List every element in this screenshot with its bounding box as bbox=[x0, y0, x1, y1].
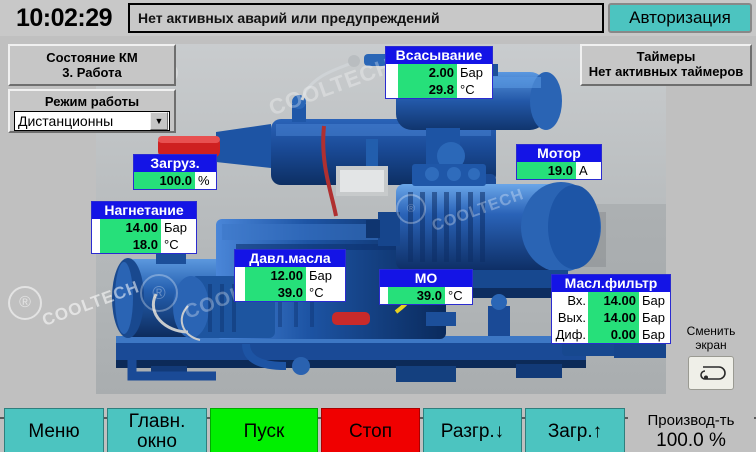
compressor-state-title: Состояние КМ bbox=[10, 50, 174, 65]
discharge-pressure-unit: Бар bbox=[161, 219, 196, 236]
mo-panel: МО 39.0 °C bbox=[379, 269, 473, 305]
menu-button[interactable]: Меню bbox=[4, 408, 104, 452]
oil-filter-row-differential: Диф. 0.00 Бар bbox=[552, 326, 670, 343]
capacity-value: 100.0 % bbox=[656, 430, 726, 452]
compressor-state-panel: Состояние КМ 3. Работа bbox=[8, 44, 176, 86]
oil-filter-differential-value: 0.00 bbox=[588, 326, 639, 343]
oil-filter-title: Масл.фильтр bbox=[552, 275, 670, 292]
oil-pressure-value: 12.00 bbox=[245, 267, 306, 284]
oil-filter-differential-label: Диф. bbox=[552, 326, 588, 343]
discharge-row-temperature: 18.0 °C bbox=[92, 236, 196, 253]
oil-filter-inlet-label: Вх. bbox=[552, 292, 588, 309]
top-bar: 10:02:29 Нет активных аварий или предупр… bbox=[0, 0, 756, 36]
suction-panel: Всасывание 2.00 Бар 29.8 °C bbox=[385, 46, 493, 99]
timers-title: Таймеры bbox=[582, 49, 750, 64]
oil-pressure-title: Давл.масла bbox=[235, 250, 345, 267]
suction-temperature-label bbox=[386, 81, 398, 98]
stop-button[interactable]: Стоп bbox=[321, 408, 420, 452]
oil-filter-outlet-unit: Бар bbox=[639, 309, 670, 326]
oil-filter-outlet-label: Вых. bbox=[552, 309, 588, 326]
change-screen-control: Сменить экран bbox=[672, 324, 750, 402]
motor-title: Мотор bbox=[517, 145, 601, 162]
clock-display: 10:02:29 bbox=[0, 0, 128, 36]
motor-panel: Мотор 19.0 A bbox=[516, 144, 602, 180]
timers-value: Нет активных таймеров bbox=[582, 64, 750, 79]
change-screen-label-line1: Сменить bbox=[672, 324, 750, 338]
discharge-panel: Нагнетание 14.00 Бар 18.0 °C bbox=[91, 201, 197, 254]
oil-filter-row-outlet: Вых. 14.00 Бар bbox=[552, 309, 670, 326]
load-title: Загруз. bbox=[134, 155, 216, 172]
suction-pressure-value: 2.00 bbox=[398, 64, 457, 81]
compressor-state-value: 3. Работа bbox=[10, 65, 174, 80]
operating-mode-selected-value: Дистанционны bbox=[15, 113, 150, 129]
authorization-button[interactable]: Авторизация bbox=[608, 3, 752, 33]
oil-filter-row-inlet: Вх. 14.00 Бар bbox=[552, 292, 670, 309]
loop-arrow-icon bbox=[696, 364, 726, 382]
main-area: ® COOLTECH ® COOLTECH ® COOLTECH ® COOLT… bbox=[0, 36, 756, 417]
mo-row-temperature: 39.0 °C bbox=[380, 287, 472, 304]
watermark-mark-4: ® bbox=[8, 286, 42, 320]
suction-pressure-label bbox=[386, 64, 398, 81]
motor-current-unit: A bbox=[576, 162, 601, 179]
oil-pressure-panel: Давл.масла 12.00 Бар 39.0 °C bbox=[234, 249, 346, 302]
timers-panel: Таймеры Нет активных таймеров bbox=[580, 44, 752, 86]
discharge-pressure-value: 14.00 bbox=[100, 219, 161, 236]
discharge-row-pressure: 14.00 Бар bbox=[92, 219, 196, 236]
capacity-status: Производ-ть 100.0 % bbox=[628, 408, 754, 452]
operating-mode-select[interactable]: Дистанционны ▼ bbox=[14, 111, 170, 131]
mo-temperature-unit: °C bbox=[445, 287, 472, 304]
oil-temperature-value: 39.0 bbox=[245, 284, 306, 301]
main-window-button[interactable]: Главн. окно bbox=[107, 408, 207, 452]
discharge-temperature-label bbox=[92, 236, 100, 253]
oil-filter-panel: Масл.фильтр Вх. 14.00 Бар Вых. 14.00 Бар… bbox=[551, 274, 671, 344]
load-percent-unit: % bbox=[195, 172, 216, 189]
change-screen-button[interactable] bbox=[688, 356, 734, 390]
load-percent-value: 100.0 bbox=[134, 172, 195, 189]
load-row-percent: 100.0 % bbox=[134, 172, 216, 189]
oil-pressure-row-temperature: 39.0 °C bbox=[235, 284, 345, 301]
hmi-screen: 10:02:29 Нет активных аварий или предупр… bbox=[0, 0, 756, 452]
discharge-pressure-label bbox=[92, 219, 100, 236]
suction-title: Всасывание bbox=[386, 47, 492, 64]
oil-pressure-unit: Бар bbox=[306, 267, 345, 284]
suction-pressure-unit: Бар bbox=[457, 64, 492, 81]
capacity-label: Производ-ть bbox=[648, 412, 735, 430]
motor-current-value: 19.0 bbox=[517, 162, 576, 179]
operating-mode-title: Режим работы bbox=[10, 94, 174, 109]
oil-filter-inlet-unit: Бар bbox=[639, 292, 670, 309]
load-panel: Загруз. 100.0 % bbox=[133, 154, 217, 190]
suction-row-pressure: 2.00 Бар bbox=[386, 64, 492, 81]
oil-temperature-unit: °C bbox=[306, 284, 345, 301]
unload-button[interactable]: Разгр.↓ bbox=[423, 408, 522, 452]
suction-temperature-unit: °C bbox=[457, 81, 492, 98]
load-button[interactable]: Загр.↑ bbox=[525, 408, 625, 452]
suction-temperature-value: 29.8 bbox=[398, 81, 457, 98]
motor-row-current: 19.0 A bbox=[517, 162, 601, 179]
operating-mode-panel: Режим работы Дистанционны ▼ bbox=[8, 89, 176, 133]
oil-temperature-label bbox=[235, 284, 245, 301]
discharge-temperature-value: 18.0 bbox=[100, 236, 161, 253]
discharge-title: Нагнетание bbox=[92, 202, 196, 219]
chevron-down-icon[interactable]: ▼ bbox=[150, 112, 168, 130]
start-button[interactable]: Пуск bbox=[210, 408, 318, 452]
mo-temperature-value: 39.0 bbox=[388, 287, 445, 304]
suction-row-temperature: 29.8 °C bbox=[386, 81, 492, 98]
change-screen-label-line2: экран bbox=[672, 338, 750, 352]
oil-filter-inlet-value: 14.00 bbox=[588, 292, 639, 309]
alarm-status-banner: Нет активных аварий или предупреждений bbox=[128, 3, 604, 33]
mo-temperature-label bbox=[380, 287, 388, 304]
mo-title: МО bbox=[380, 270, 472, 287]
discharge-temperature-unit: °C bbox=[161, 236, 196, 253]
oil-pressure-row-pressure: 12.00 Бар bbox=[235, 267, 345, 284]
oil-pressure-label bbox=[235, 267, 245, 284]
bottom-buttons-wrap: Меню Главн. окно Пуск Стоп Разгр.↓ Загр.… bbox=[0, 405, 756, 452]
oil-filter-outlet-value: 14.00 bbox=[588, 309, 639, 326]
oil-filter-differential-unit: Бар bbox=[639, 326, 670, 343]
